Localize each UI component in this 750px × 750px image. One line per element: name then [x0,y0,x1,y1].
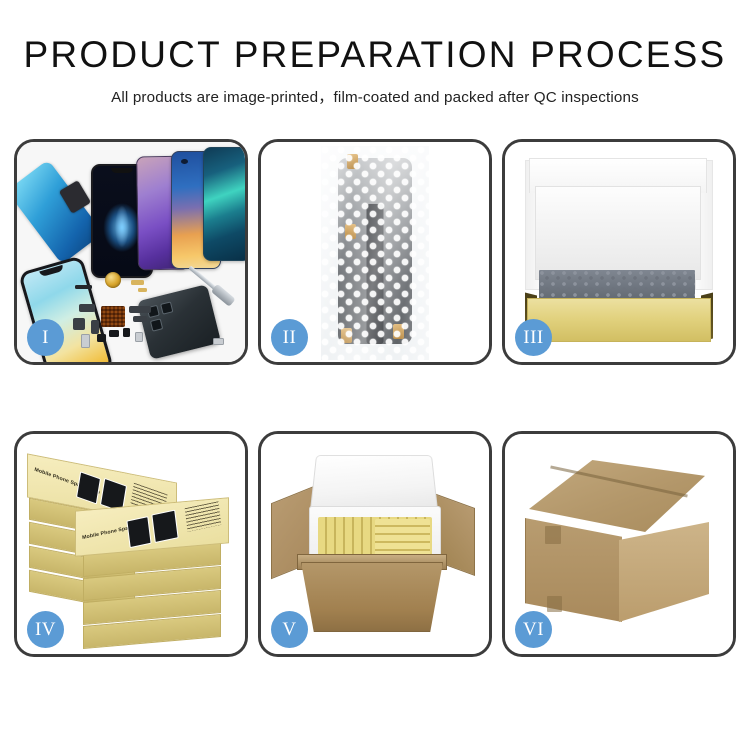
step-panel-1[interactable]: I [14,139,248,365]
yellow-boxes-inside [375,519,430,559]
step-badge-6: VI [515,611,552,648]
camera-module [160,301,173,314]
product-window-image [151,510,178,543]
phone-notch [111,168,133,173]
small-part [138,288,147,292]
yellow-kraft-inner-box [527,298,711,342]
small-part [81,334,90,348]
step-panel-4[interactable]: Mobile Phone Spare Parts Mobile Phone Sp… [14,431,248,657]
page-title: PRODUCT PREPARATION PROCESS [0,36,750,75]
carton-side-face [619,522,709,622]
teal-gradient-phone [203,147,245,261]
tape-patch [545,526,561,544]
page-subtitle: All products are image-printed，film-coat… [0,85,750,107]
flex-cable [91,320,99,334]
step-badge-2: II [271,319,308,356]
small-part [131,280,144,285]
step-panel-6[interactable]: VI [502,431,736,657]
small-part [213,338,224,345]
small-part [135,332,143,342]
camera-hole-icon [181,159,188,164]
product-window-image [126,516,151,548]
tape-patch [547,596,562,612]
brown-shipping-carton [301,562,443,632]
flex-cable [73,318,85,330]
camera-module [150,318,163,331]
step-panel-5[interactable]: V [258,431,492,657]
flex-cable [79,304,95,312]
step-badge-5: V [271,611,308,648]
bubble-wrap-sleeve [321,146,429,360]
white-foam-liner [535,186,701,280]
copper-grid-module [101,306,125,327]
page-header: PRODUCT PREPARATION PROCESS All products… [0,0,750,107]
small-chip [123,328,130,337]
flex-cable [129,306,151,313]
phone-notch [39,265,64,277]
process-steps-grid: I II III [14,139,736,657]
step-panel-2[interactable]: II [258,139,492,365]
speaker-coil [105,272,121,288]
carton-top-face [529,460,705,532]
flex-cable [133,316,147,322]
step-badge-4: IV [27,611,64,648]
plastic-sheen [321,146,429,360]
carton-front-face [525,518,622,622]
step-badge-3: III [515,319,552,356]
step-panel-3[interactable]: III [502,139,736,365]
boxed-units-stack: Mobile Phone Spare Parts Mobile Phone Sp… [25,452,237,642]
small-chip [109,330,119,337]
small-part [75,285,92,289]
step-badge-1: I [27,319,64,356]
small-chip [97,334,106,342]
